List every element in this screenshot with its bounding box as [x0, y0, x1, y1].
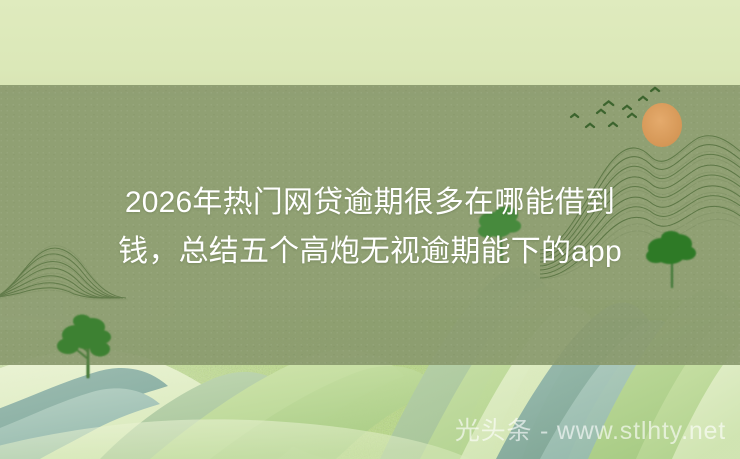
cover-banner: 2026年热门网贷逾期很多在哪能借到 钱，总结五个高炮无视逾期能下的app 光头…	[0, 0, 740, 459]
line-art-mountain-left	[0, 245, 128, 300]
line-art-mountain-right	[540, 138, 740, 279]
bird-icon	[623, 106, 631, 109]
tree-right	[646, 231, 696, 286]
bird-icon	[571, 115, 578, 118]
horizon-haze	[0, 292, 740, 318]
landscape-svg	[0, 0, 740, 459]
bird-icon	[605, 102, 614, 106]
bird-icon	[597, 110, 605, 113]
bird-icon	[628, 114, 636, 117]
bird-icon	[639, 97, 647, 100]
landscape-artwork	[0, 0, 740, 459]
bird-icon	[652, 88, 660, 91]
bird-icon	[609, 123, 617, 126]
sun-circle	[642, 103, 682, 147]
tree-center	[478, 208, 521, 263]
bird-icon	[586, 124, 594, 127]
